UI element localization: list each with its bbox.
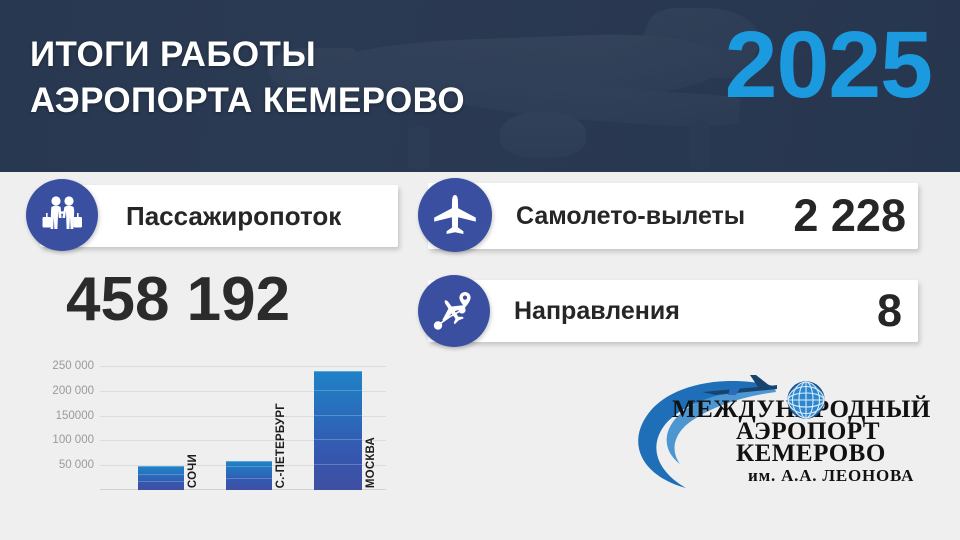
bar-label-saint-petersburg: С.-ПЕТЕРБУРГ: [276, 403, 288, 488]
y-tick-label: 200 000: [52, 385, 94, 397]
bar-label-sochi: СОЧИ: [188, 454, 200, 488]
logo-line-kemerovo: КЕМЕРОВО: [736, 440, 886, 468]
route-map-pin-icon: [418, 275, 490, 347]
bar-label-moscow: МОСКВА: [366, 437, 378, 488]
bar-sochi[interactable]: [138, 466, 184, 490]
year-label: 2025: [725, 18, 932, 113]
y-tick-label: 100 000: [52, 434, 94, 446]
airplane-silhouette-icon: [700, 372, 778, 398]
y-tick-label: 150000: [56, 410, 94, 422]
y-tick-label: 50 000: [59, 459, 94, 471]
logo-line-leonov: им. А.А. ЛЕОНОВА: [748, 466, 914, 486]
page-title: ИТОГИ РАБОТЫ АЭРОПОРТА КЕМЕРОВО: [30, 32, 465, 123]
stat-value-destinations: 8: [877, 285, 902, 337]
airplane-icon: [418, 178, 492, 252]
y-tick-label: 250 000: [52, 360, 94, 372]
bar-saint-petersburg[interactable]: [226, 461, 272, 490]
stat-card-destinations[interactable]: Направления 8: [428, 280, 918, 342]
airport-logo: МЕЖДУНАРОДНЫЙ АЭРОПОРТ КЕМЕРОВО им. А.А.…: [628, 368, 944, 496]
gridline: [100, 366, 386, 367]
stat-label-destinations: Направления: [514, 297, 680, 326]
stat-value-passenger-traffic: 458 192: [66, 264, 290, 335]
stat-label-passenger-traffic: Пассажиропоток: [126, 201, 341, 232]
stat-label-aircraft-departures: Самолето-вылеты: [516, 202, 745, 231]
globe-icon: [786, 380, 826, 420]
stat-value-aircraft-departures: 2 228: [793, 190, 906, 242]
bar-moscow[interactable]: [314, 371, 362, 490]
header-banner: ИТОГИ РАБОТЫ АЭРОПОРТА КЕМЕРОВО 2025: [0, 0, 960, 172]
infographic-root: ИТОГИ РАБОТЫ АЭРОПОРТА КЕМЕРОВО 2025 Пас…: [0, 0, 960, 540]
chart-y-axis: 250 000 200 000 150000 100 000 50 000: [8, 366, 94, 490]
chart-plot-area: СОЧИ С.-ПЕТЕРБУРГ МОСКВА: [100, 366, 386, 490]
passengers-with-luggage-icon: [26, 179, 98, 251]
passenger-traffic-bar-chart: 250 000 200 000 150000 100 000 50 000 СО…: [8, 350, 400, 522]
content-area: Пассажиропоток 458 192 С: [0, 172, 960, 540]
stat-card-aircraft-departures[interactable]: Самолето-вылеты 2 228: [428, 183, 918, 249]
